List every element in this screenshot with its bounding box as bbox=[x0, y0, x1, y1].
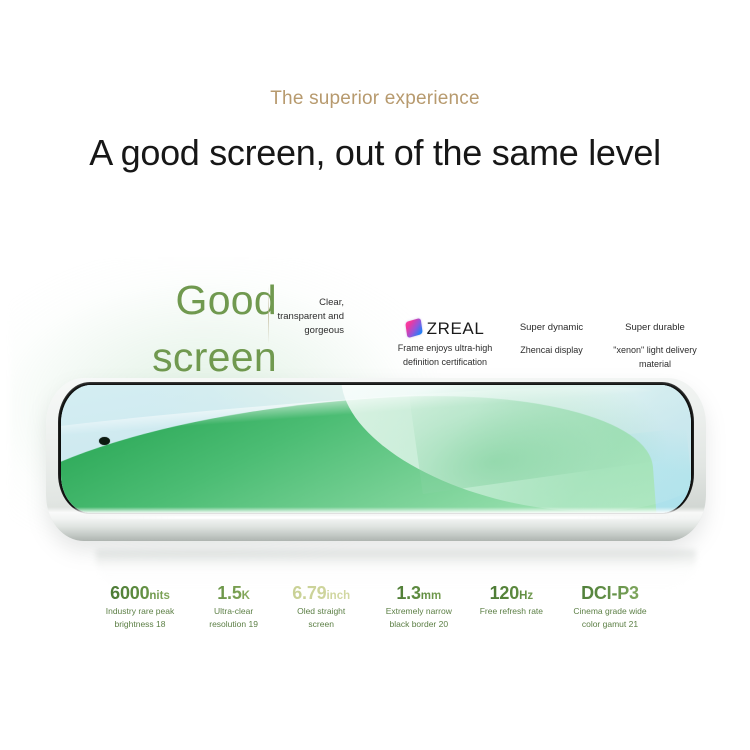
front-camera-punch-hole bbox=[99, 437, 110, 445]
hero-wordmark: Good screen bbox=[137, 272, 277, 385]
certification-row: ZREAL Frame enjoys ultra-high definition… bbox=[386, 318, 711, 371]
zreal-logo-lockup: ZREAL bbox=[386, 318, 504, 338]
zreal-brand-text: ZREAL bbox=[427, 320, 485, 337]
spec-value: DCI-P3 bbox=[558, 584, 662, 603]
phone-product-image bbox=[40, 378, 712, 578]
spec-value: 6000nits bbox=[88, 584, 192, 603]
spec-unit: mm bbox=[421, 590, 441, 602]
spec-value: 120Hz bbox=[470, 584, 552, 603]
phone-body bbox=[46, 378, 706, 541]
hero-sub-caption: Clear, transparent and gorgeous bbox=[272, 296, 344, 337]
certification-item-dynamic: Super dynamic Zhencai display bbox=[504, 318, 599, 358]
phone-screen bbox=[61, 385, 691, 513]
certification-item-durable: Super durable "xenon" light delivery mat… bbox=[599, 318, 711, 371]
certification-item-zreal: ZREAL Frame enjoys ultra-high definition… bbox=[386, 318, 504, 369]
hero-stage: Good screen Clear, transparent and gorge… bbox=[0, 250, 750, 580]
spec-unit: nits bbox=[149, 590, 169, 602]
spec-item-border: 1.3mm Extremely narrow black border 20 bbox=[373, 584, 465, 630]
spec-label: Extremely narrow black border 20 bbox=[373, 605, 465, 631]
spec-unit: inch bbox=[326, 590, 350, 602]
spec-item-brightness: 6000nits Industry rare peak brightness 1… bbox=[88, 584, 192, 630]
certification-title: Super durable bbox=[599, 318, 711, 338]
spec-item-refresh-rate: 120Hz Free refresh rate bbox=[470, 584, 552, 618]
spec-strip: 6000nits Industry rare peak brightness 1… bbox=[88, 584, 662, 630]
phone-frame-highlight bbox=[66, 516, 686, 519]
certification-desc: Frame enjoys ultra-high definition certi… bbox=[386, 342, 504, 369]
certification-title: Super dynamic bbox=[504, 318, 599, 338]
phone-metal-frame bbox=[46, 507, 706, 541]
spec-value: 1.5K bbox=[198, 584, 270, 603]
hero-wordmark-line1: Good bbox=[176, 277, 278, 323]
spec-label: Ultra-clear resolution 19 bbox=[198, 605, 270, 631]
spec-unit: K bbox=[242, 590, 250, 602]
eyebrow-text: The superior experience bbox=[0, 88, 750, 111]
spec-item-size: 6.79inch Oled straight screen bbox=[275, 584, 367, 630]
page-title: A good screen, out of the same level bbox=[0, 131, 750, 174]
spec-value: 1.3mm bbox=[373, 584, 465, 603]
caption-divider bbox=[268, 286, 269, 344]
spec-item-color-gamut: DCI-P3 Cinema grade wide color gamut 21 bbox=[558, 584, 662, 630]
hero-wordmark-line2: screen bbox=[137, 329, 277, 386]
certification-desc: Zhencai display bbox=[504, 344, 599, 358]
spec-label: Oled straight screen bbox=[275, 605, 367, 631]
spec-value: 6.79inch bbox=[275, 584, 367, 603]
spec-label: Cinema grade wide color gamut 21 bbox=[558, 605, 662, 631]
certification-desc: "xenon" light delivery material bbox=[599, 344, 711, 371]
phone-bezel bbox=[58, 382, 694, 514]
zreal-diamond-icon bbox=[405, 318, 423, 338]
spec-label: Free refresh rate bbox=[470, 605, 552, 618]
spec-item-resolution: 1.5K Ultra-clear resolution 19 bbox=[198, 584, 270, 630]
page-header: The superior experience A good screen, o… bbox=[0, 88, 750, 174]
spec-unit: Hz bbox=[519, 590, 533, 602]
spec-label: Industry rare peak brightness 18 bbox=[88, 605, 192, 631]
